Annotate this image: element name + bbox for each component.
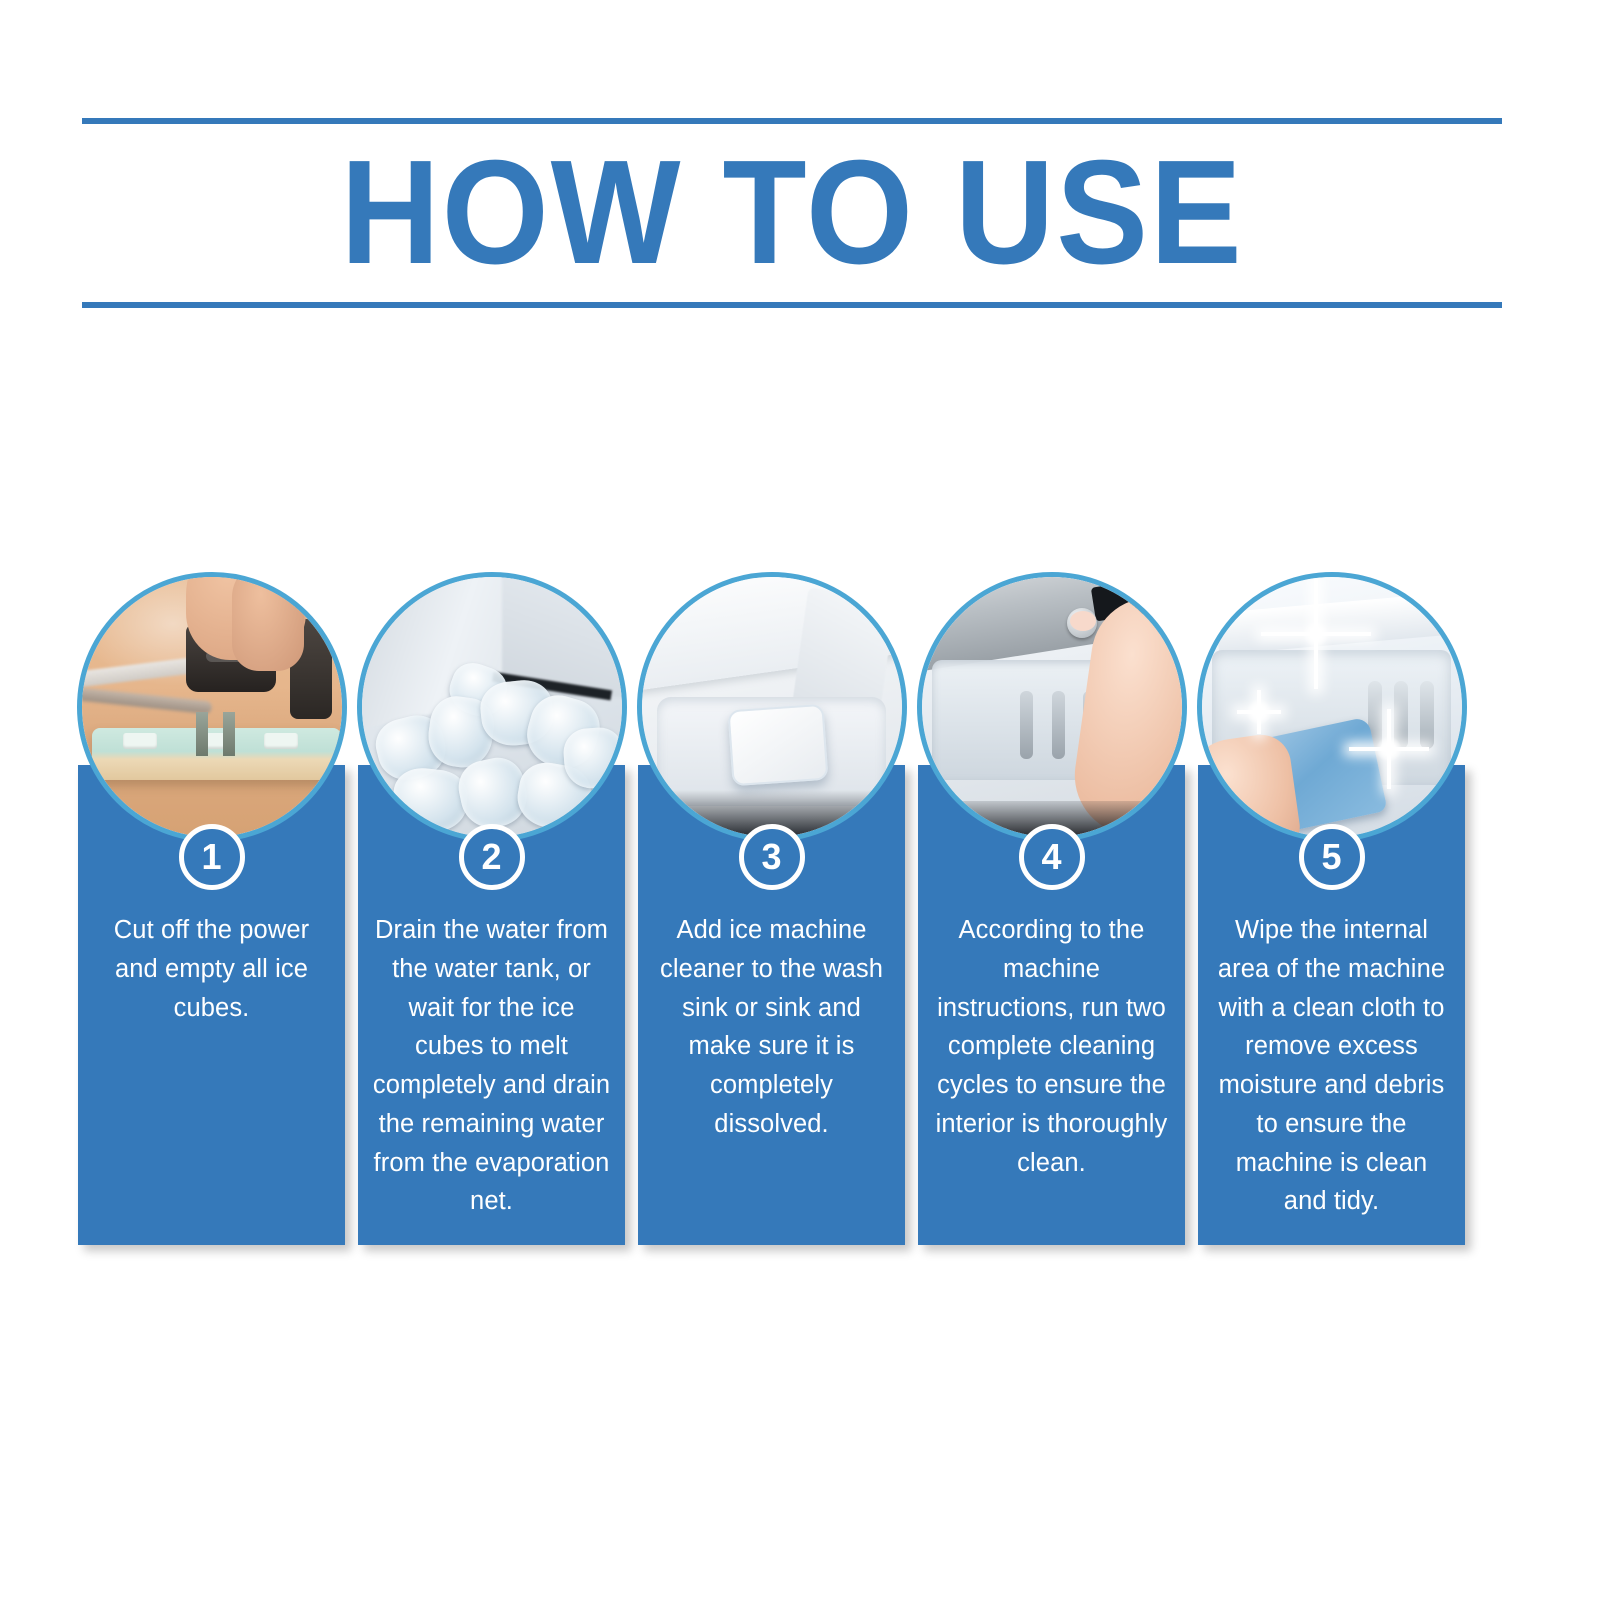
title-rule-bottom bbox=[82, 302, 1502, 308]
step-caption-4: According to the machine instructions, r… bbox=[932, 911, 1171, 1182]
step-card-1: 1 Cut off the power and empty all ice cu… bbox=[78, 765, 345, 1245]
hand-wiping-with-cloth-photo bbox=[1197, 572, 1467, 842]
steps-container: 1 Cut off the power and empty all ice cu… bbox=[78, 560, 1522, 1260]
step-caption-1: Cut off the power and empty all ice cube… bbox=[92, 911, 331, 1027]
step-card-2: 2 Drain the water from the water tank, o… bbox=[358, 765, 625, 1245]
cleaner-tablet-in-machine-photo bbox=[637, 572, 907, 842]
step-number-badge-1: 1 bbox=[179, 824, 245, 890]
step-caption-2: Drain the water from the water tank, or … bbox=[372, 911, 611, 1221]
step-caption-5: Wipe the internal area of the machine wi… bbox=[1212, 911, 1451, 1221]
step-number-badge-3: 3 bbox=[739, 824, 805, 890]
step-card-5: 5 Wipe the internal area of the machine … bbox=[1198, 765, 1465, 1245]
hand-pressing-control-buttons-photo bbox=[917, 572, 1187, 842]
page-header: HOW TO USE bbox=[82, 118, 1502, 308]
unplug-power-strip-photo bbox=[77, 572, 347, 842]
page-title: HOW TO USE bbox=[132, 118, 1453, 308]
ice-cubes-in-tray-photo bbox=[357, 572, 627, 842]
step-card-4: 4 According to the machine instructions,… bbox=[918, 765, 1185, 1245]
step-card-3: 3 Add ice machine cleaner to the wash si… bbox=[638, 765, 905, 1245]
step-number-badge-5: 5 bbox=[1299, 824, 1365, 890]
step-caption-3: Add ice machine cleaner to the wash sink… bbox=[652, 911, 891, 1144]
step-number-badge-4: 4 bbox=[1019, 824, 1085, 890]
step-number-badge-2: 2 bbox=[459, 824, 525, 890]
